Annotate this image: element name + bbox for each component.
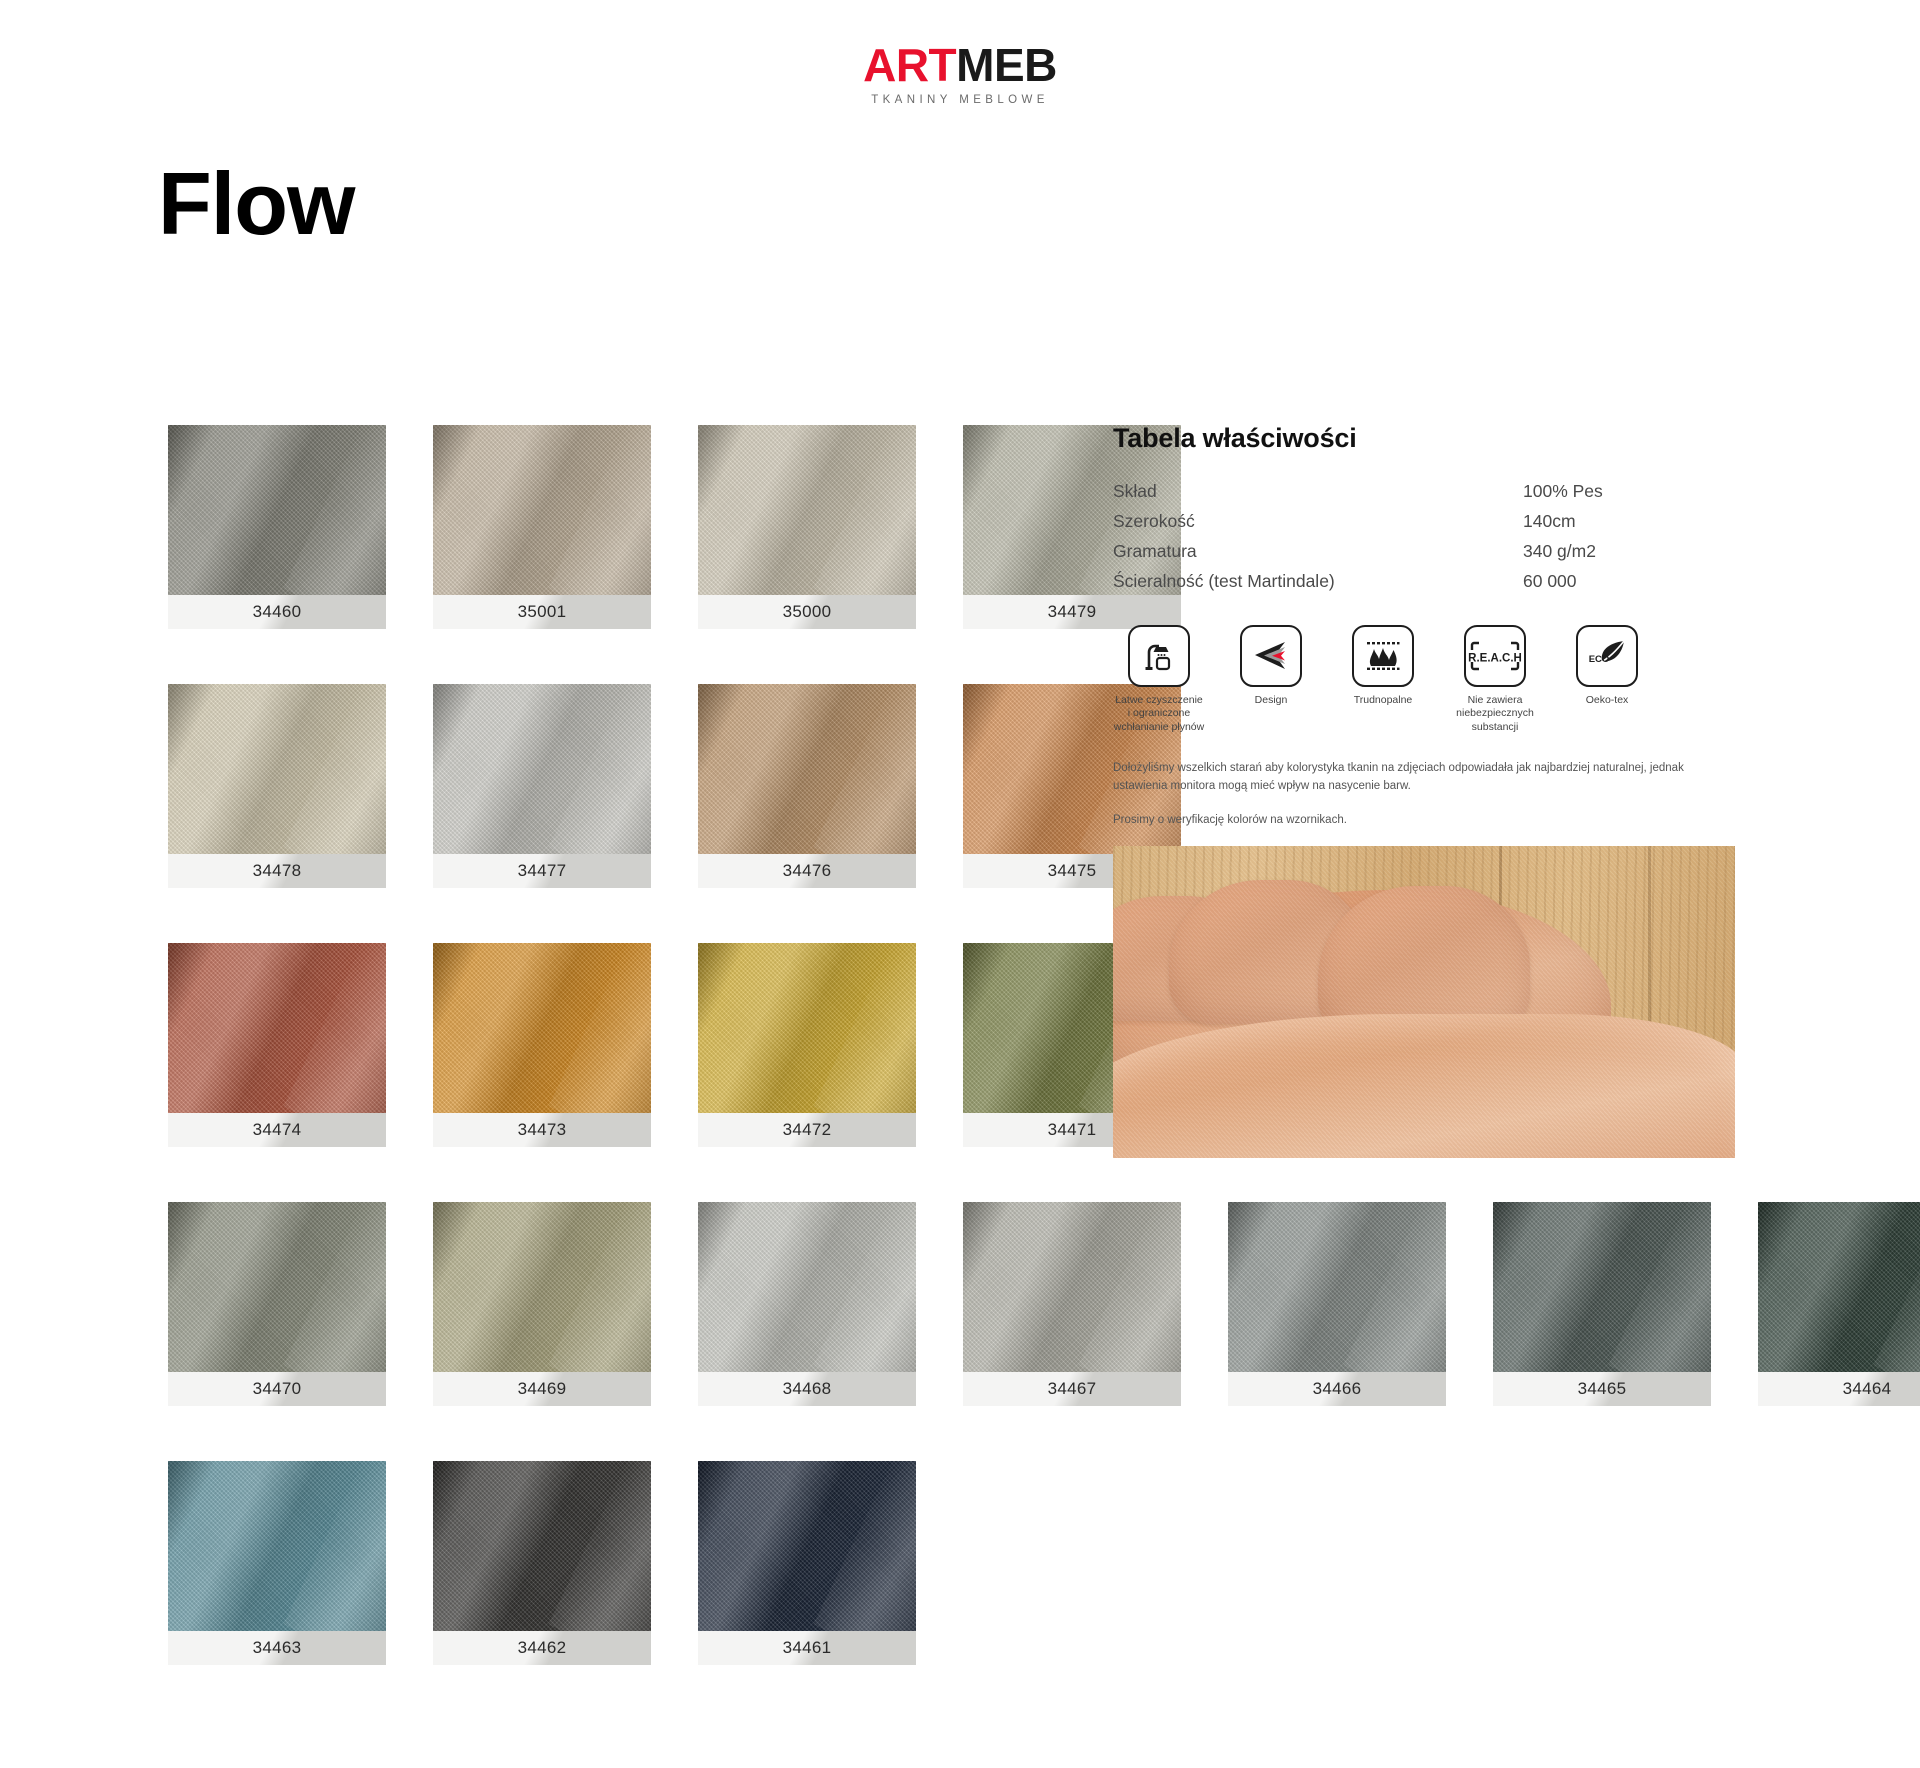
swatch-code: 34479 xyxy=(1048,602,1097,622)
swatch-code: 34473 xyxy=(518,1120,567,1140)
product-photo xyxy=(1113,846,1735,1158)
brand-name-art: ART xyxy=(863,39,956,91)
brand-name-meb: MEB xyxy=(956,39,1057,91)
swatch-label: 34464 xyxy=(1758,1372,1920,1406)
swatch-35000[interactable]: 35000 xyxy=(698,425,916,629)
fabric-texture-overlay xyxy=(1113,846,1735,1158)
svg-text:R.E.A.C.H: R.E.A.C.H xyxy=(1468,652,1522,664)
swatch-code: 34467 xyxy=(1048,1379,1097,1399)
table-row: Szerokość 140cm xyxy=(1113,507,1743,537)
properties-table: Skład 100% Pes Szerokość 140cm Gramatura… xyxy=(1113,477,1743,597)
property-label: Skład xyxy=(1113,477,1523,507)
swatch-label: 35001 xyxy=(433,595,651,629)
swatch-code: 34474 xyxy=(253,1120,302,1140)
easy-clean-caption: Łatwe czyszczenie i ograniczone wchłania… xyxy=(1113,694,1205,735)
swatch-34469[interactable]: 34469 xyxy=(433,1202,651,1406)
property-value: 340 g/m2 xyxy=(1523,537,1743,567)
swatch-code: 34476 xyxy=(783,861,832,881)
feature-reach: R.E.A.C.H Nie zawiera niebezpiecznych su… xyxy=(1449,625,1541,735)
swatch-image xyxy=(168,425,386,595)
reach-caption: Nie zawiera niebezpiecznych substancji xyxy=(1449,694,1541,735)
swatch-label: 34474 xyxy=(168,1113,386,1147)
svg-text:ECO: ECO xyxy=(1589,654,1610,665)
swatch-image xyxy=(698,684,916,854)
swatch-34466[interactable]: 34466 xyxy=(1228,1202,1446,1406)
brand-tagline: TKANINY MEBLOWE xyxy=(0,95,1920,107)
swatch-image xyxy=(433,684,651,854)
swatch-code: 34466 xyxy=(1313,1379,1362,1399)
swatch-image xyxy=(168,943,386,1113)
property-label: Gramatura xyxy=(1113,537,1523,567)
swatch-code: 34468 xyxy=(783,1379,832,1399)
properties-title: Tabela właściwości xyxy=(1113,423,1743,454)
table-row: Gramatura 340 g/m2 xyxy=(1113,537,1743,567)
swatch-label: 34472 xyxy=(698,1113,916,1147)
swatch-34472[interactable]: 34472 xyxy=(698,943,916,1147)
swatch-image xyxy=(433,425,651,595)
swatch-image xyxy=(168,684,386,854)
swatch-label: 34461 xyxy=(698,1631,916,1665)
disclaimer: Dołożyliśmy wszelkich starań aby kolorys… xyxy=(1113,760,1733,829)
property-value: 140cm xyxy=(1523,507,1743,537)
swatch-code: 34464 xyxy=(1843,1379,1892,1399)
swatch-label: 34476 xyxy=(698,854,916,888)
swatch-34460[interactable]: 34460 xyxy=(168,425,386,629)
swatch-label: 34460 xyxy=(168,595,386,629)
swatch-label: 34463 xyxy=(168,1631,386,1665)
reach-icon: R.E.A.C.H xyxy=(1464,625,1526,687)
swatch-34476[interactable]: 34476 xyxy=(698,684,916,888)
oeko-tex-icon: ECO xyxy=(1576,625,1638,687)
property-value: 100% Pes xyxy=(1523,477,1743,507)
catalog-page: ARTMEB TKANINY MEBLOWE Flow 34460 xyxy=(0,0,1920,1768)
swatch-34468[interactable]: 34468 xyxy=(698,1202,916,1406)
swatch-image xyxy=(698,943,916,1113)
disclaimer-paragraph-1: Dołożyliśmy wszelkich starań aby kolorys… xyxy=(1113,760,1733,796)
swatch-label: 35000 xyxy=(698,595,916,629)
swatch-image xyxy=(698,1461,916,1631)
swatch-code: 34460 xyxy=(253,602,302,622)
swatch-label: 34467 xyxy=(963,1372,1181,1406)
swatch-code: 34470 xyxy=(253,1379,302,1399)
swatch-code: 34469 xyxy=(518,1379,567,1399)
feature-oeko-tex: ECO Oeko-tex xyxy=(1561,625,1653,735)
feature-icons: Łatwe czyszczenie i ograniczone wchłania… xyxy=(1113,625,1743,735)
swatch-label: 34473 xyxy=(433,1113,651,1147)
swatch-34478[interactable]: 34478 xyxy=(168,684,386,888)
swatch-label: 34466 xyxy=(1228,1372,1446,1406)
swatch-image xyxy=(433,1461,651,1631)
swatch-label: 34468 xyxy=(698,1372,916,1406)
property-label: Ścieralność (test Martindale) xyxy=(1113,567,1523,597)
oeko-tex-caption: Oeko-tex xyxy=(1561,694,1653,708)
swatch-code: 34462 xyxy=(518,1638,567,1658)
swatch-label: 34478 xyxy=(168,854,386,888)
feature-design: Design xyxy=(1225,625,1317,735)
disclaimer-paragraph-2: Prosimy o weryfikację kolorów na wzornik… xyxy=(1113,812,1733,830)
swatch-34465[interactable]: 34465 xyxy=(1493,1202,1711,1406)
swatch-code: 34478 xyxy=(253,861,302,881)
swatch-label: 34469 xyxy=(433,1372,651,1406)
property-label: Szerokość xyxy=(1113,507,1523,537)
swatch-label: 34477 xyxy=(433,854,651,888)
swatch-code: 34463 xyxy=(253,1638,302,1658)
property-value: 60 000 xyxy=(1523,567,1743,597)
swatch-code: 34472 xyxy=(783,1120,832,1140)
swatch-label: 34470 xyxy=(168,1372,386,1406)
swatch-code: 34471 xyxy=(1048,1120,1097,1140)
flame-retardant-caption: Trudnopalne xyxy=(1337,694,1429,708)
easy-clean-icon xyxy=(1128,625,1190,687)
swatch-image xyxy=(1493,1202,1711,1372)
swatch-code: 34475 xyxy=(1048,861,1097,881)
page-title: Flow xyxy=(158,160,354,248)
properties-panel: Tabela właściwości Skład 100% Pes Szerok… xyxy=(1113,423,1743,1158)
swatch-code: 35001 xyxy=(518,602,567,622)
swatch-34461[interactable]: 34461 xyxy=(698,1461,916,1665)
swatch-34474[interactable]: 34474 xyxy=(168,943,386,1147)
swatch-34470[interactable]: 34470 xyxy=(168,1202,386,1406)
swatch-image xyxy=(168,1461,386,1631)
swatch-image xyxy=(168,1202,386,1372)
swatch-image xyxy=(433,1202,651,1372)
swatch-34463[interactable]: 34463 xyxy=(168,1461,386,1665)
swatch-34462[interactable]: 34462 xyxy=(433,1461,651,1665)
swatch-image xyxy=(698,1202,916,1372)
swatch-row-5: 34463 34462 34461 xyxy=(168,1461,1848,1665)
flame-retardant-icon xyxy=(1352,625,1414,687)
swatch-label: 34462 xyxy=(433,1631,651,1665)
design-caption: Design xyxy=(1225,694,1317,708)
brand-wordmark: ARTMEB xyxy=(0,42,1920,88)
swatch-code: 34465 xyxy=(1578,1379,1627,1399)
design-icon xyxy=(1240,625,1302,687)
brand-logo: ARTMEB TKANINY MEBLOWE xyxy=(0,42,1920,107)
table-row: Skład 100% Pes xyxy=(1113,477,1743,507)
swatch-image xyxy=(963,1202,1181,1372)
swatch-code: 34461 xyxy=(783,1638,832,1658)
swatch-image xyxy=(1758,1202,1920,1372)
swatch-row-4: 34470 34469 34468 xyxy=(168,1202,1848,1406)
swatch-image xyxy=(698,425,916,595)
swatch-34464[interactable]: 34464 xyxy=(1758,1202,1920,1406)
swatch-34473[interactable]: 34473 xyxy=(433,943,651,1147)
swatch-code: 34477 xyxy=(518,861,567,881)
feature-easy-clean: Łatwe czyszczenie i ograniczone wchłania… xyxy=(1113,625,1205,735)
swatch-code: 35000 xyxy=(783,602,832,622)
swatch-35001[interactable]: 35001 xyxy=(433,425,651,629)
swatch-image xyxy=(1228,1202,1446,1372)
swatch-34467[interactable]: 34467 xyxy=(963,1202,1181,1406)
swatch-image xyxy=(433,943,651,1113)
table-row: Ścieralność (test Martindale) 60 000 xyxy=(1113,567,1743,597)
swatch-34477[interactable]: 34477 xyxy=(433,684,651,888)
swatch-label: 34465 xyxy=(1493,1372,1711,1406)
feature-flame-retardant: Trudnopalne xyxy=(1337,625,1429,735)
